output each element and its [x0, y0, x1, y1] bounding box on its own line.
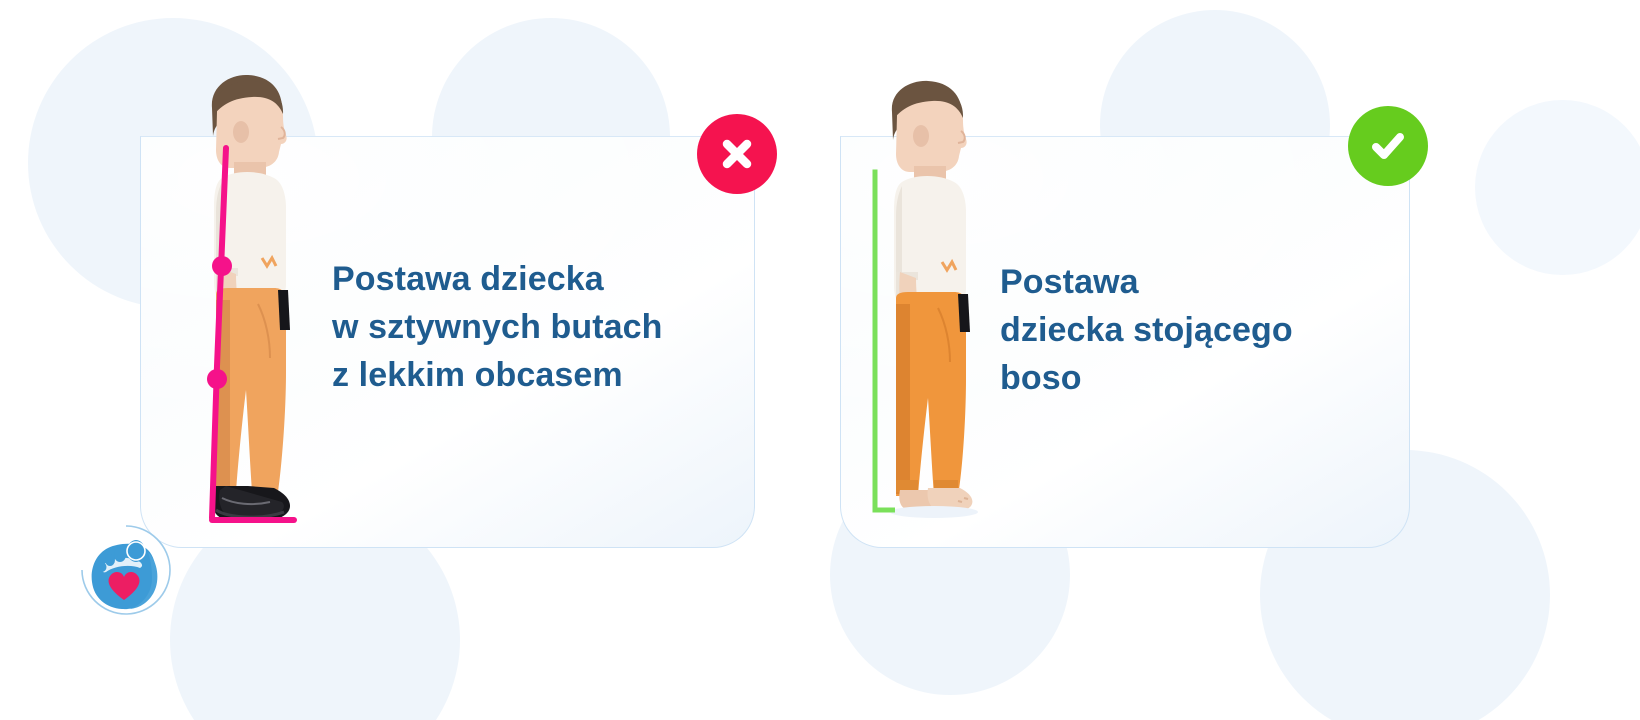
- infographic-canvas: Postawa dziecka w sztywnych butach z lek…: [0, 0, 1640, 720]
- posture-guide-line-correct: [865, 166, 895, 516]
- posture-guide-line-incorrect: [176, 136, 336, 536]
- caption-incorrect-posture: Postawa dziecka w sztywnych butach z lek…: [332, 255, 732, 399]
- decor-circle: [1475, 100, 1640, 275]
- child-figure-in-shoes: [186, 72, 306, 522]
- check-circle-icon: [1365, 123, 1411, 169]
- status-badge-incorrect: [697, 114, 777, 194]
- footprint-heart-logo: [78, 522, 174, 618]
- caption-correct-posture: Postawa dziecka stojącego boso: [1000, 258, 1370, 402]
- status-badge-correct: [1348, 106, 1428, 186]
- child-figure-barefoot: [872, 78, 982, 518]
- cross-circle-icon: [715, 132, 759, 176]
